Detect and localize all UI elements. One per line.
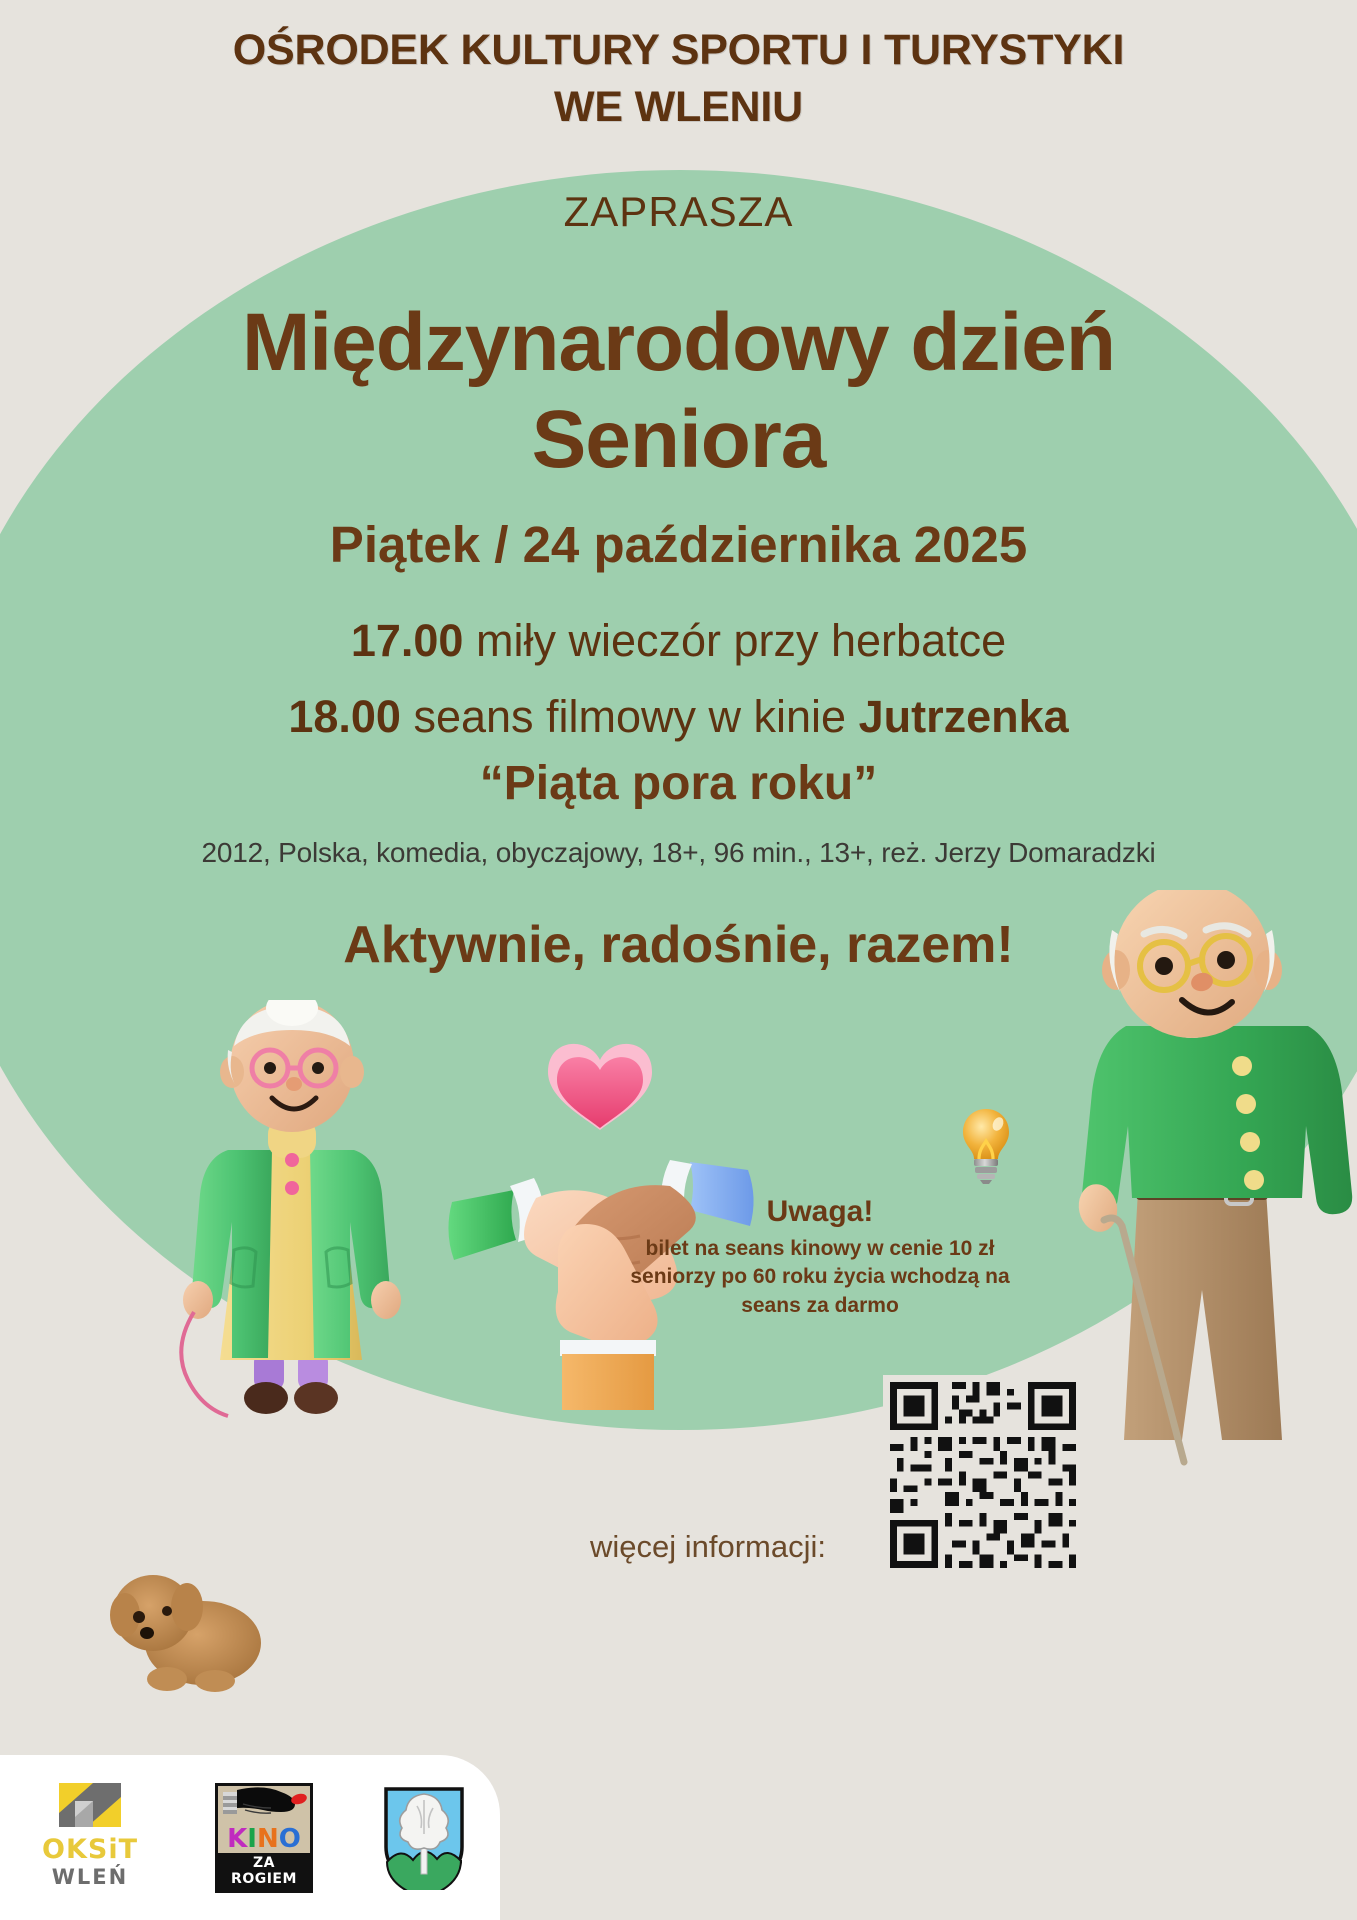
light-bulb-icon bbox=[957, 1107, 1015, 1185]
oksit-mark-icon bbox=[59, 1783, 121, 1827]
program-text-1: miły wieczór przy herbatce bbox=[463, 615, 1006, 666]
organization-line-2: WE WLENIU bbox=[0, 79, 1357, 136]
kino-letter-o: O bbox=[279, 1824, 301, 1854]
organization-line-1: OŚRODEK KULTURY SPORTU I TURYSTYKI bbox=[0, 22, 1357, 79]
program-item-1: 17.00 miły wieczór przy herbatce bbox=[0, 612, 1357, 671]
wlen-coat-of-arms-icon[interactable] bbox=[383, 1786, 465, 1890]
film-title: “Piąta pora roku” bbox=[0, 756, 1357, 811]
notice-line-2: seniorzy po 60 roku życia wchodzą na bbox=[610, 1263, 1030, 1291]
elderly-woman-illustration bbox=[150, 1000, 440, 1430]
kino-letter-n: N bbox=[257, 1824, 279, 1854]
qr-code[interactable] bbox=[883, 1375, 1083, 1575]
program-item-2: 18.00 seans filmowy w kinie Jutrzenka bbox=[0, 688, 1357, 747]
event-date: Piątek / 24 października 2025 bbox=[0, 515, 1357, 574]
poster-root: OŚRODEK KULTURY SPORTU I TURYSTYKI WE WL… bbox=[0, 0, 1357, 1920]
program-text-2: seans filmowy w kinie bbox=[401, 691, 859, 742]
kino-subtitle: ZA ROGIEM bbox=[218, 1853, 310, 1890]
logo-kino-za-rogiem[interactable]: KINO ZA ROGIEM bbox=[215, 1783, 313, 1893]
kino-letter-i: I bbox=[247, 1824, 257, 1854]
more-info-label: więcej informacji: bbox=[590, 1529, 826, 1565]
notice-title: Uwaga! bbox=[610, 1195, 1030, 1229]
oksit-subtitle: WLEŃ bbox=[35, 1863, 145, 1891]
dog-illustration bbox=[95, 1545, 295, 1695]
hand-glyph bbox=[218, 1786, 310, 1824]
logo-oksit[interactable]: OKSiT WLEŃ bbox=[35, 1783, 145, 1891]
logo-strip: OKSiT WLEŃ KINO ZA ROGIE bbox=[0, 1755, 500, 1920]
program-time-1: 17.00 bbox=[351, 615, 464, 666]
notice-line-3: seans za darmo bbox=[610, 1292, 1030, 1320]
notice-line-1: bilet na seans kinowy w cenie 10 zł bbox=[610, 1235, 1030, 1263]
program-venue-2: Jutrzenka bbox=[859, 691, 1069, 742]
kino-letter-k: K bbox=[227, 1824, 247, 1854]
title-line-2: Seniora bbox=[0, 392, 1357, 489]
program-time-2: 18.00 bbox=[288, 691, 401, 742]
notice-block: Uwaga! bilet na seans kinowy w cenie 10 … bbox=[610, 1195, 1030, 1320]
notice-body: bilet na seans kinowy w cenie 10 zł seni… bbox=[610, 1235, 1030, 1320]
pointing-hand-icon bbox=[218, 1786, 310, 1824]
film-metadata: 2012, Polska, komedia, obyczajowy, 18+, … bbox=[0, 837, 1357, 869]
invite-word: ZAPRASZA bbox=[0, 188, 1357, 236]
page-title: Międzynarodowy dzień Seniora bbox=[0, 295, 1357, 489]
organization-title: OŚRODEK KULTURY SPORTU I TURYSTYKI WE WL… bbox=[0, 22, 1357, 136]
kino-word: KINO bbox=[218, 1824, 310, 1853]
title-line-1: Międzynarodowy dzień bbox=[0, 295, 1357, 392]
oksit-name: OKSiT bbox=[35, 1836, 145, 1863]
